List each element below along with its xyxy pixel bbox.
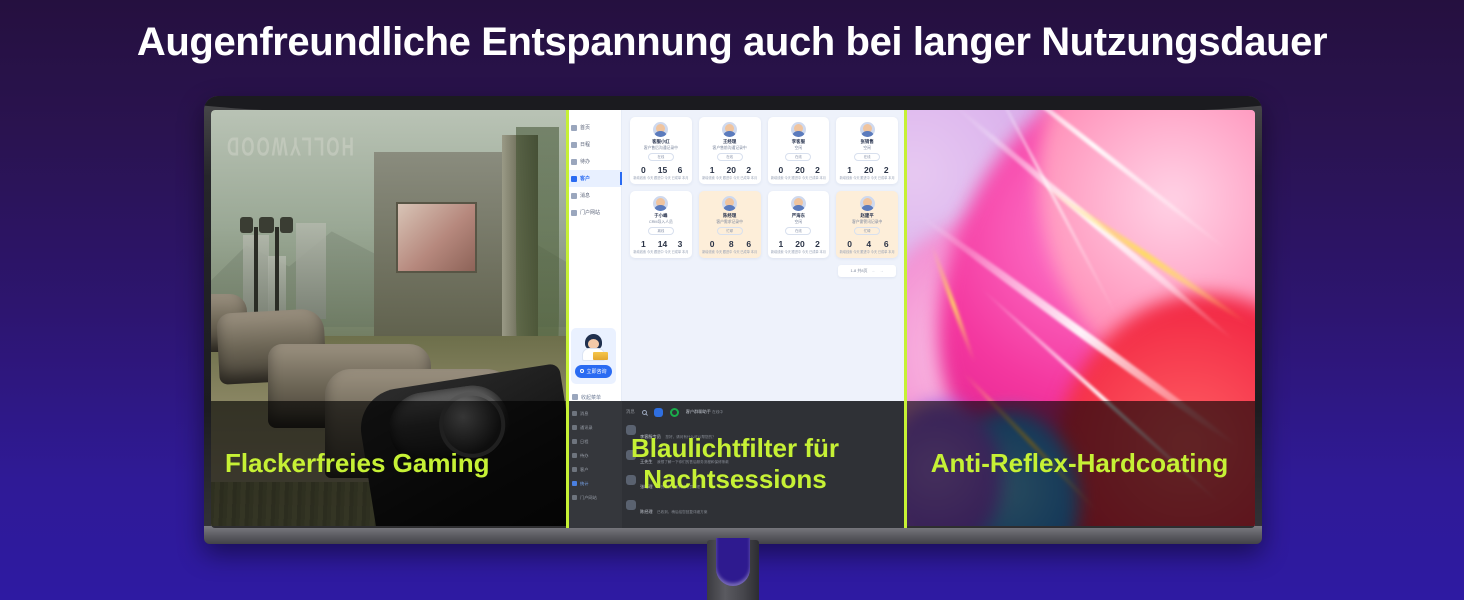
next-page-button[interactable]: → xyxy=(880,268,884,273)
sidebar-item-label: 客户 xyxy=(580,175,590,182)
collapse-icon xyxy=(572,394,578,400)
agent-stats: 0新增线索 今天 15跟进中 今天 6已成单 本月 xyxy=(633,166,689,180)
stat-label: 跟进中 今天 xyxy=(792,176,809,180)
plus-icon xyxy=(571,159,577,165)
agent-card[interactable]: 张销售 空闲 在线 1新增线索 今天 20跟进中 今天 2已成单 本月 xyxy=(836,117,898,184)
agent-status-text: 客户售后沟通记录中 xyxy=(633,146,689,152)
stat-value: 6 xyxy=(878,240,895,249)
agent-status-text: CRM导入人员 xyxy=(633,220,689,226)
agent-status-text: 客户售前沟通记录中 xyxy=(702,146,758,152)
crm-sidebar: 首页 日程 待办 xyxy=(566,110,622,407)
stat-label: 已成单 本月 xyxy=(878,176,895,180)
agent-name: 严海东 xyxy=(771,213,827,220)
avatar xyxy=(860,122,875,137)
agent-card[interactable]: 严海东 空闲 在线 1新增线索 今天 20跟进中 今天 2已成单 本月 xyxy=(768,191,830,258)
stat-value: 3 xyxy=(672,240,689,249)
stat-value: 1 xyxy=(633,240,653,249)
status-badge: 在线 xyxy=(785,153,811,161)
stat-label: 新增线索 今天 xyxy=(633,176,653,180)
agent-card[interactable]: 李客服 空闲 在线 0新增线索 今天 20跟进中 今天 2已成单 本月 xyxy=(768,117,830,184)
agent-card[interactable]: 于小峰 CRM导入人员 离线 1新增线索 今天 14跟进中 今天 3已成单 本月 xyxy=(630,191,692,258)
agent-stats: 0新增线索 今天 8跟进中 今天 6已成单 本月 xyxy=(702,240,758,254)
stat-value: 1 xyxy=(771,240,791,249)
status-badge: 离线 xyxy=(648,227,674,235)
contacts-icon xyxy=(572,425,577,430)
curved-monitor: HOLLYWOOD Flackerfreies Gaming xyxy=(204,96,1262,556)
chat-nav-label: 消息 xyxy=(580,411,588,417)
street-lamp-icon xyxy=(254,227,258,319)
sidebar-item-label: 首页 xyxy=(580,124,590,131)
panel-art: Anti-Reflex-Hardcoating xyxy=(904,110,1255,528)
crm-top-window: 首页 日程 待办 xyxy=(566,110,904,407)
agent-name: 王经理 xyxy=(702,139,758,146)
sidebar-item-label: 消息 xyxy=(580,192,590,199)
street-lamp-icon xyxy=(275,227,279,319)
home-icon xyxy=(571,125,577,131)
chat-nav-label: 通讯录 xyxy=(580,425,593,431)
game-sign-text: HOLLYWOOD xyxy=(225,130,354,160)
chat-toolbar: 消息 客户群聊助手 在线中 xyxy=(626,406,898,419)
caption-right: Anti-Reflex-Hardcoating xyxy=(904,448,1255,480)
stat-value: 2 xyxy=(878,166,895,175)
sidebar-item-todo[interactable]: 待办 xyxy=(566,153,621,170)
consult-now-label: 立即咨询 xyxy=(586,368,606,375)
stat-label: 跟进中 今天 xyxy=(723,176,740,180)
stat-value: 20 xyxy=(860,166,877,175)
agent-name: 张销售 xyxy=(839,139,895,146)
prev-page-button[interactable]: ← xyxy=(872,268,876,273)
pagination[interactable]: 1-8 共8页 ← → xyxy=(838,265,896,277)
sidebar-item-customers[interactable]: 客户 xyxy=(566,170,621,187)
stat-label: 跟进中 今天 xyxy=(860,250,877,254)
agent-status-text: 客户需警讯记录中 xyxy=(839,220,895,226)
chat-nav-messages[interactable]: 消息 xyxy=(566,407,622,421)
avatar xyxy=(653,196,668,211)
avatar xyxy=(722,122,737,137)
agent-card[interactable]: 客服小红 客户售后沟通记录中 在线 0新增线索 今天 15跟进中 今天 6已成单… xyxy=(630,117,692,184)
sidebar-item-label: 待办 xyxy=(580,158,590,165)
stat-value: 15 xyxy=(654,166,671,175)
stat-value: 20 xyxy=(723,166,740,175)
caption-left: Flackerfreies Gaming xyxy=(211,448,566,480)
stat-label: 新增线索 今天 xyxy=(702,250,722,254)
monitor-stand xyxy=(707,540,759,600)
stat-value: 0 xyxy=(633,166,653,175)
stat-label: 已成单 本月 xyxy=(740,250,757,254)
agent-stats: 1新增线索 今天 14跟进中 今天 3已成单 本月 xyxy=(633,240,689,254)
panel-divider xyxy=(904,110,907,528)
caption-center: Blaulichtfilter für Nachtsessions xyxy=(566,433,904,496)
stat-value: 1 xyxy=(702,166,722,175)
agent-stats: 0新增线索 今天 4跟进中 今天 6已成单 本月 xyxy=(839,240,895,254)
folder-icon xyxy=(571,210,577,216)
stat-value: 20 xyxy=(792,240,809,249)
agent-stats: 1新增线索 今天 20跟进中 今天 2已成单 本月 xyxy=(771,240,827,254)
stat-label: 新增线索 今天 xyxy=(840,176,860,180)
agent-stats: 1新增线索 今天 20跟进中 今天 2已成单 本月 xyxy=(839,166,895,180)
bell-icon xyxy=(571,193,577,199)
stat-value: 6 xyxy=(740,240,757,249)
stat-value: 2 xyxy=(809,240,826,249)
agent-status-text: 客户需求记录中 xyxy=(702,220,758,226)
stat-label: 跟进中 今天 xyxy=(792,250,809,254)
avatar xyxy=(653,122,668,137)
stat-value: 0 xyxy=(840,240,860,249)
agent-card[interactable]: 王经理 客户售前沟通记录中 在线 1新增线索 今天 20跟进中 今天 2已成单 … xyxy=(699,117,761,184)
stat-value: 4 xyxy=(860,240,877,249)
avatar xyxy=(860,196,875,211)
status-badge: 忙碌 xyxy=(717,227,743,235)
message-sender: 陈经理 xyxy=(640,509,653,514)
stat-value: 0 xyxy=(771,166,791,175)
stat-label: 已成单 本月 xyxy=(740,176,757,180)
stat-label: 已成单 本月 xyxy=(672,250,689,254)
wechat-icon xyxy=(670,408,679,417)
caption-band-center: 消息 通讯录 日程 待办 客户 统计 门户网站 消息 xyxy=(566,401,904,528)
stat-value: 8 xyxy=(723,240,740,249)
monitor-screen: HOLLYWOOD Flackerfreies Gaming xyxy=(211,110,1255,528)
status-badge: 在线 xyxy=(648,153,674,161)
consult-now-button[interactable]: 立即咨询 xyxy=(575,365,612,378)
chat-contact-name: 客户群聊助手 xyxy=(686,409,711,414)
message-icon xyxy=(572,411,577,416)
panel-game: HOLLYWOOD Flackerfreies Gaming xyxy=(211,110,566,528)
support-agent-illustration xyxy=(579,334,609,362)
agent-stats: 0新增线索 今天 20跟进中 今天 2已成单 本月 xyxy=(771,166,827,180)
stat-value: 2 xyxy=(809,166,826,175)
stat-value: 1 xyxy=(840,166,860,175)
stat-label: 跟进中 今天 xyxy=(723,250,740,254)
agent-name: 陈经理 xyxy=(702,213,758,220)
sidebar-item-portal[interactable]: 门户网站 xyxy=(566,204,621,221)
stat-value: 20 xyxy=(792,166,809,175)
avatar xyxy=(791,122,806,137)
chat-toolbar-title: 消息 xyxy=(626,409,635,415)
sidebar-item-home[interactable]: 首页 xyxy=(566,119,621,136)
stat-label: 跟进中 今天 xyxy=(654,176,671,180)
compose-button[interactable] xyxy=(654,408,663,417)
panel-divider xyxy=(566,110,569,528)
avatar xyxy=(722,196,737,211)
agent-status-text: 空闲 xyxy=(771,146,827,152)
stat-label: 新增线索 今天 xyxy=(702,176,722,180)
game-tower xyxy=(296,223,326,319)
card-icon xyxy=(571,176,577,182)
status-badge: 在线 xyxy=(854,153,880,161)
sidebar-item-label: 门户网站 xyxy=(580,209,600,216)
calendar-icon xyxy=(571,142,577,148)
crm-main-content: 客服小红 客户售后沟通记录中 在线 0新增线索 今天 15跟进中 今天 6已成单… xyxy=(622,110,904,407)
sidebar-item-label: 日程 xyxy=(580,141,590,148)
agent-status-text: 空闲 xyxy=(771,220,827,226)
chat-message[interactable]: 陈经理 已收到，稍后给您回复详细方案 xyxy=(626,500,898,518)
avatar xyxy=(626,500,636,510)
stat-value: 14 xyxy=(654,240,671,249)
avatar xyxy=(791,196,806,211)
chat-contact-status: 在线中 xyxy=(712,410,723,414)
panel-app: 首页 日程 待办 xyxy=(566,110,904,528)
agent-card-grid: 客服小红 客户售后沟通记录中 在线 0新增线索 今天 15跟进中 今天 6已成单… xyxy=(630,117,898,258)
monitor-bezel: HOLLYWOOD Flackerfreies Gaming xyxy=(204,96,1262,544)
agent-name: 赵建平 xyxy=(839,213,895,220)
stat-label: 新增线索 今天 xyxy=(771,250,791,254)
stat-label: 跟进中 今天 xyxy=(860,176,877,180)
game-billboard xyxy=(396,202,478,273)
agent-name: 李客服 xyxy=(771,139,827,146)
agent-card[interactable]: 陈经理 客户需求记录中 忙碌 0新增线索 今天 8跟进中 今天 6已成单 本月 xyxy=(699,191,761,258)
stat-value: 0 xyxy=(702,240,722,249)
status-badge: 在线 xyxy=(785,227,811,235)
stat-value: 6 xyxy=(672,166,689,175)
sidebar-promo: 立即咨询 xyxy=(571,328,616,384)
chat-icon xyxy=(580,369,584,373)
stat-label: 已成单 本月 xyxy=(809,176,826,180)
stat-label: 跟进中 今天 xyxy=(654,250,671,254)
stat-label: 已成单 本月 xyxy=(809,250,826,254)
message-preview: 已收到，稍后给您回复详细方案 xyxy=(657,510,707,514)
stat-label: 新增线索 今天 xyxy=(840,250,860,254)
stat-label: 已成单 本月 xyxy=(878,250,895,254)
sidebar-item-messages[interactable]: 消息 xyxy=(566,187,621,204)
sidebar-item-calendar[interactable]: 日程 xyxy=(566,136,621,153)
stat-label: 新增线索 今天 xyxy=(771,176,791,180)
stat-label: 新增线索 今天 xyxy=(633,250,653,254)
pagination-label: 1-8 共8页 xyxy=(850,268,867,274)
agent-name: 于小峰 xyxy=(633,213,689,220)
caption-band-left: Flackerfreies Gaming xyxy=(211,401,566,528)
search-icon[interactable] xyxy=(642,410,647,415)
agent-status-text: 空闲 xyxy=(839,146,895,152)
agent-stats: 1新增线索 今天 20跟进中 今天 2已成单 本月 xyxy=(702,166,758,180)
stat-label: 已成单 本月 xyxy=(672,176,689,180)
agent-name: 客服小红 xyxy=(633,139,689,146)
status-badge: 在线 xyxy=(717,153,743,161)
status-badge: 忙碌 xyxy=(854,227,880,235)
caption-band-right: Anti-Reflex-Hardcoating xyxy=(904,401,1255,528)
agent-card[interactable]: 赵建平 客户需警讯记录中 忙碌 0新增线索 今天 4跟进中 今天 6已成单 本月 xyxy=(836,191,898,258)
stat-value: 2 xyxy=(740,166,757,175)
page-title: Augenfreundliche Entspannung auch bei la… xyxy=(0,20,1464,65)
